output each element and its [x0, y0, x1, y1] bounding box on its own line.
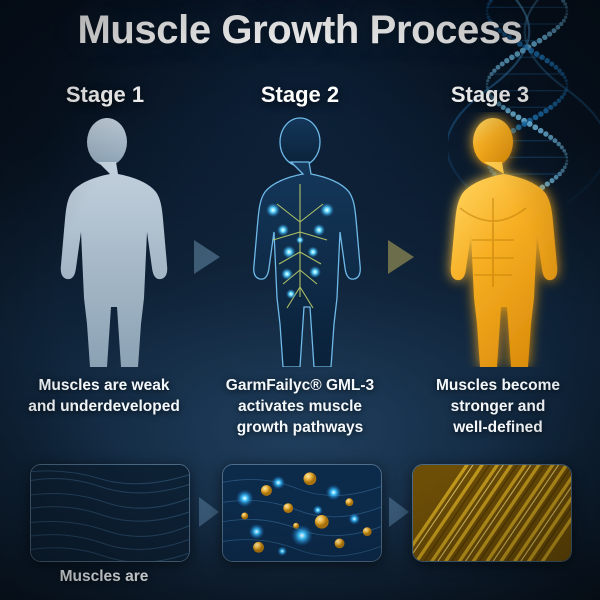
caption-line: Muscles become	[400, 375, 596, 396]
stage-label-row: Stage 1 Stage 2 Stage 3	[0, 82, 600, 112]
right-arrow-icon	[384, 494, 414, 530]
caption-line: growth pathways	[202, 417, 398, 438]
stage-1-caption: Muscles are weak and underdeveloped	[6, 375, 202, 417]
caption-line: Muscles are	[6, 566, 202, 587]
caption-row: Muscles are weak and underdeveloped Garm…	[0, 375, 600, 460]
caption-line: activates muscle	[202, 396, 398, 417]
caption-line: stronger and	[400, 396, 596, 417]
stage-label-2: Stage 2	[210, 82, 390, 108]
caption-line: and underdeveloped	[6, 396, 202, 417]
swatch-row	[0, 464, 600, 562]
strong-muscle-fibre-swatch	[412, 464, 572, 562]
stage-3-body-muscular	[398, 112, 588, 367]
stage-label-3: Stage 3	[400, 82, 580, 108]
stage-3-caption: Muscles become stronger and well-defined	[400, 375, 596, 438]
page-title: Muscle Growth Process	[0, 8, 600, 53]
caption-line: well-defined	[400, 417, 596, 438]
caption-line: GarmFailyc® GML-3	[202, 375, 398, 396]
stage-2-caption: GarmFailyc® GML-3 activates muscle growt…	[202, 375, 398, 438]
activated-fibre-swatch	[222, 464, 382, 562]
infographic-root: Muscle Growth Process Stage 1 Stage 2 St…	[0, 0, 600, 600]
caption-line: Muscles are weak	[6, 375, 202, 396]
figure-row	[0, 112, 600, 367]
right-arrow-icon	[194, 494, 224, 530]
weak-muscle-fibre-swatch	[30, 464, 190, 562]
stage-1-body-silhouette	[12, 112, 202, 367]
bottom-caption: Muscles are	[6, 566, 202, 587]
stage-2-body-activated	[205, 112, 395, 367]
stage-label-1: Stage 1	[15, 82, 195, 108]
